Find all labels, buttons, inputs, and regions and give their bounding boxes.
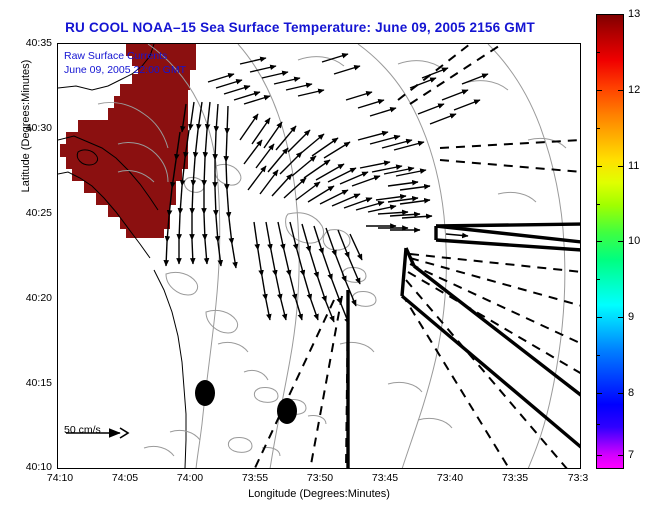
colorbar-minor-tick <box>596 128 600 129</box>
xtick-label: 74:00 <box>177 472 203 484</box>
colorbar-label: 13 <box>628 8 640 20</box>
colorbar-tick <box>618 241 624 242</box>
xtick-label: 73:35 <box>502 472 528 484</box>
colorbar-tick <box>596 455 602 456</box>
xtick-label: 73:3 <box>568 472 588 484</box>
colorbar-tick <box>596 393 602 394</box>
radar-station-marker <box>195 380 215 406</box>
map-plot-area[interactable]: Raw Surface Currents June 09, 2005 22:00… <box>57 43 581 469</box>
colorbar-minor-tick <box>596 355 600 356</box>
colorbar-tick <box>596 317 602 318</box>
colorbar-minor-tick <box>596 279 600 280</box>
colorbar-tick <box>596 241 602 242</box>
y-axis-label: Latitude (Degrees:Minutes) <box>20 36 32 216</box>
velocity-scale-arrow-icon <box>64 424 134 442</box>
colorbar-label: 7 <box>628 449 634 461</box>
colorbar-tick <box>618 166 624 167</box>
colorbar-tick <box>596 14 602 15</box>
radar-station-marker <box>277 398 297 424</box>
plot-annotation: Raw Surface Currents June 09, 2005 22:00… <box>64 50 186 77</box>
colorbar-tick <box>618 455 624 456</box>
xtick-label: 73:50 <box>307 472 333 484</box>
figure-root: RU COOL NOAA–15 Sea Surface Temperature:… <box>0 0 651 515</box>
colorbar-minor-tick <box>596 52 600 53</box>
xtick-label: 73:45 <box>372 472 398 484</box>
xtick-label: 73:40 <box>437 472 463 484</box>
radar-beam-boundaries <box>348 224 581 469</box>
colorbar-label: 8 <box>628 387 634 399</box>
chart-title: RU COOL NOAA–15 Sea Surface Temperature:… <box>0 20 600 35</box>
x-axis-label: Longitude (Degrees:Minutes) <box>57 488 581 500</box>
map-canvas <box>58 44 581 469</box>
colorbar-tick <box>618 393 624 394</box>
velocity-scale-legend: 50 cm/s <box>64 424 101 436</box>
colorbar-tick <box>618 90 624 91</box>
colorbar-minor-tick <box>596 424 600 425</box>
colorbar-tick <box>618 317 624 318</box>
colorbar-label: 10 <box>628 235 640 247</box>
annotation-line-1: Raw Surface Currents <box>64 50 186 64</box>
colorbar-label: 12 <box>628 84 640 96</box>
radar-station-markers <box>195 380 297 424</box>
xtick-label: 74:05 <box>112 472 138 484</box>
colorbar-minor-tick <box>596 204 600 205</box>
xtick-label: 73:55 <box>242 472 268 484</box>
annotation-line-2: June 09, 2005 22:00 GMT <box>64 64 186 78</box>
plot-inner: Raw Surface Currents June 09, 2005 22:00… <box>58 44 580 468</box>
xtick-label: 74:10 <box>47 472 73 484</box>
colorbar-label: 9 <box>628 311 634 323</box>
colorbar-tick <box>596 166 602 167</box>
colorbar-label: 11 <box>628 160 639 172</box>
colorbar-tick <box>596 90 602 91</box>
